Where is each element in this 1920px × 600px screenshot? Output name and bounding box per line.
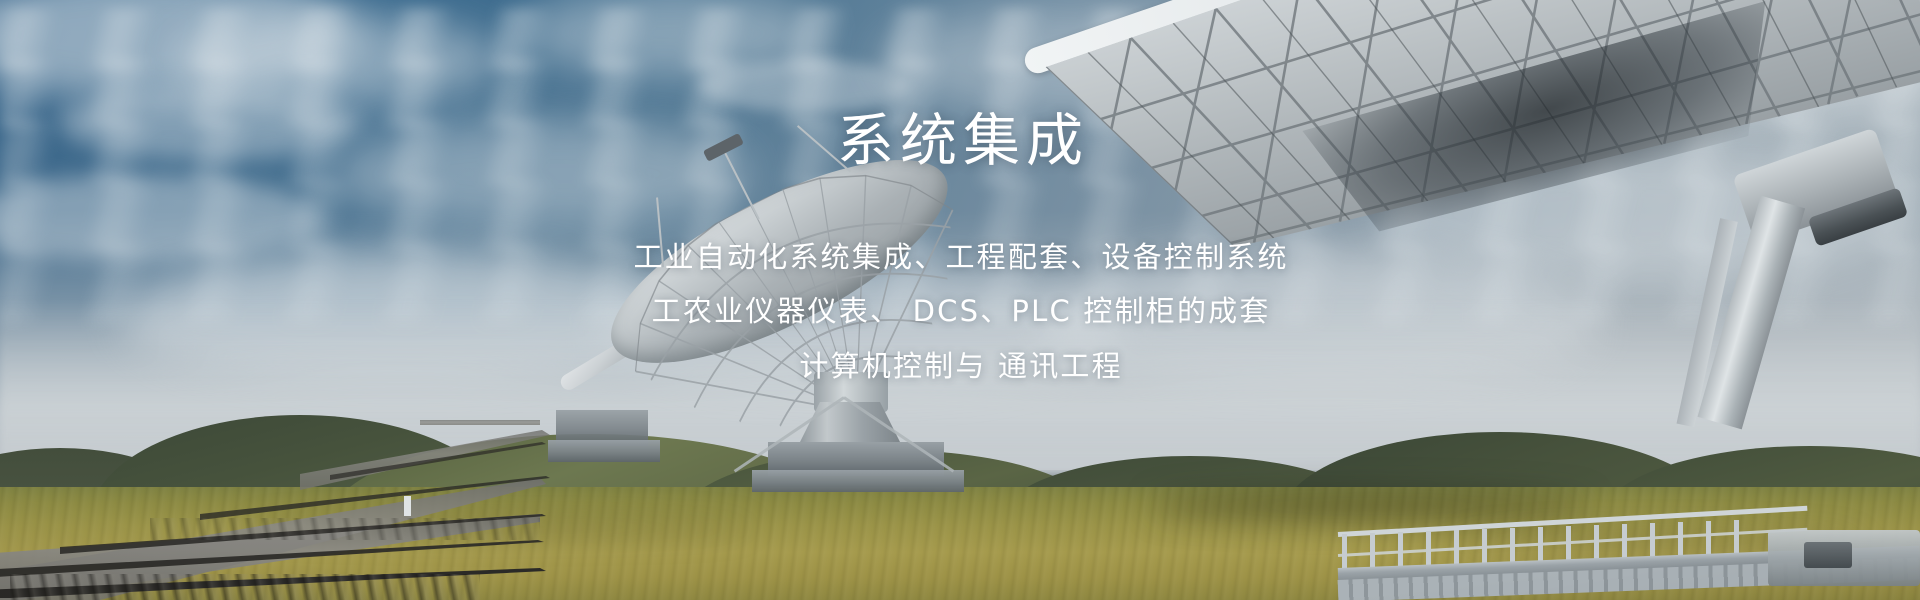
- satellite-dish-middle: [648, 196, 1078, 496]
- satellite-dish-foreground: [1020, 0, 1920, 410]
- hero-banner: 系统集成 工业自动化系统集成、工程配套、设备控制系统 工农业仪器仪表、 DCS、…: [0, 0, 1920, 600]
- service-platform: [1338, 508, 1920, 600]
